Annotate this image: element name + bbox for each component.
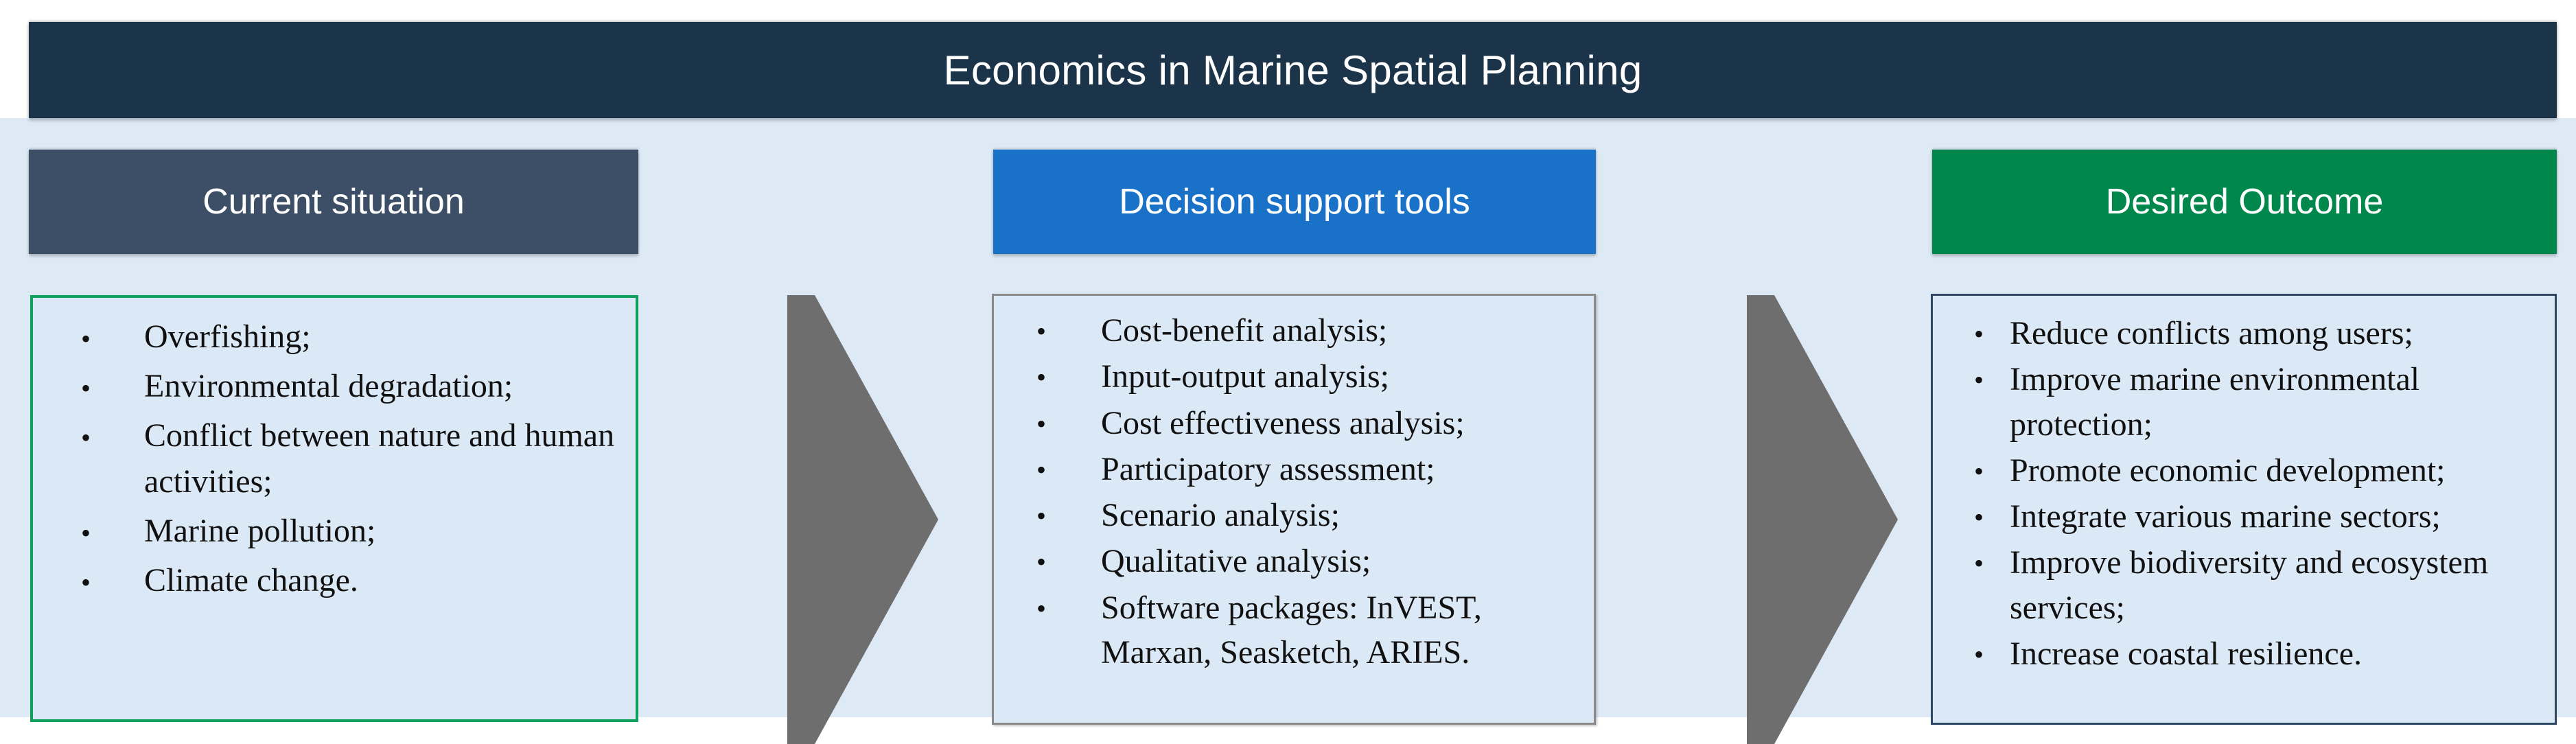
list-item: • Climate change. (81, 558, 630, 603)
column-header-decision-support-tools: Decision support tools (993, 150, 1596, 254)
bullet-icon: • (1036, 401, 1101, 438)
bullet-icon: • (1036, 585, 1101, 623)
bullet-icon: • (1974, 311, 2010, 348)
bullet-icon: • (1036, 539, 1101, 576)
page-title: Economics in Marine Spatial Planning (944, 47, 1643, 94)
bullet-icon: • (81, 314, 144, 353)
list-item: • Cost effectiveness analysis; (1036, 401, 1586, 445)
arrow-right-icon-tools-to-outcome (1747, 295, 1898, 744)
list-item-label: Environmental degradation; (144, 364, 630, 409)
column-header-desired-outcome: Desired Outcome (1932, 150, 2557, 254)
list-item: • Qualitative analysis; (1036, 539, 1586, 583)
bullet-icon: • (1036, 447, 1101, 484)
bullet-icon: • (81, 413, 144, 452)
list-item-label: Reduce conflicts among users; (2010, 311, 2551, 356)
list-item: • Improve biodiversity and ecosystem ser… (1974, 540, 2551, 630)
list-item-label: Qualitative analysis; (1101, 539, 1586, 583)
bullet-list-desired-outcome: • Reduce conflicts among users; • Improv… (1974, 311, 2551, 677)
bullet-icon: • (1974, 540, 2010, 577)
bullet-icon: • (81, 364, 144, 402)
list-item: • Software packages: InVEST, Marxan, Sea… (1036, 585, 1586, 675)
list-item-label: Conflict between nature and human activi… (144, 413, 630, 504)
column-header-label: Decision support tools (1119, 181, 1470, 222)
list-item-label: Participatory assessment; (1101, 447, 1586, 491)
list-item-label: Cost-benefit analysis; (1101, 308, 1586, 353)
list-item: • Increase coastal resilience. (1974, 631, 2551, 676)
list-item-label: Software packages: InVEST, Marxan, Seask… (1101, 585, 1586, 675)
bullet-icon: • (1036, 354, 1101, 391)
bullet-icon: • (81, 558, 144, 596)
bullet-icon: • (1036, 308, 1101, 345)
list-item-label: Improve biodiversity and ecosystem servi… (2010, 540, 2551, 630)
content-box-desired-outcome: • Reduce conflicts among users; • Improv… (1931, 294, 2557, 725)
list-item: • Participatory assessment; (1036, 447, 1586, 491)
list-item: • Reduce conflicts among users; (1974, 311, 2551, 356)
bullet-icon: • (1974, 631, 2010, 669)
list-item-label: Promote economic development; (2010, 448, 2551, 493)
list-item: • Conflict between nature and human acti… (81, 413, 630, 504)
list-item-label: Improve marine environmental protection; (2010, 357, 2551, 447)
column-header-label: Desired Outcome (2106, 181, 2384, 222)
column-header-label: Current situation (202, 181, 465, 222)
bullet-icon: • (1036, 493, 1101, 530)
bullet-icon: • (81, 509, 144, 547)
content-box-current-situation: • Overfishing; • Environmental degradati… (30, 295, 638, 722)
content-box-decision-support-tools: • Cost-benefit analysis; • Input-output … (992, 294, 1596, 725)
list-item-label: Integrate various marine sectors; (2010, 494, 2551, 539)
list-item-label: Climate change. (144, 558, 630, 603)
list-item: • Overfishing; (81, 314, 630, 360)
list-item-label: Overfishing; (144, 314, 630, 360)
list-item: • Environmental degradation; (81, 364, 630, 409)
bullet-list-decision-support-tools: • Cost-benefit analysis; • Input-output … (1036, 308, 1586, 676)
list-item: • Improve marine environmental protectio… (1974, 357, 2551, 447)
column-header-current-situation: Current situation (29, 150, 638, 254)
list-item: • Cost-benefit analysis; (1036, 308, 1586, 353)
list-item: • Promote economic development; (1974, 448, 2551, 493)
list-item-label: Input-output analysis; (1101, 354, 1586, 399)
bullet-list-current-situation: • Overfishing; • Environmental degradati… (81, 314, 630, 607)
bullet-icon: • (1974, 494, 2010, 531)
list-item-label: Scenario analysis; (1101, 493, 1586, 537)
list-item: • Scenario analysis; (1036, 493, 1586, 537)
list-item-label: Cost effectiveness analysis; (1101, 401, 1586, 445)
list-item: • Integrate various marine sectors; (1974, 494, 2551, 539)
arrow-right-icon-current-to-tools (787, 295, 938, 744)
list-item-label: Marine pollution; (144, 509, 630, 554)
list-item: • Marine pollution; (81, 509, 630, 554)
list-item: • Input-output analysis; (1036, 354, 1586, 399)
bullet-icon: • (1974, 448, 2010, 485)
bullet-icon: • (1974, 357, 2010, 394)
diagram-title-bar: Economics in Marine Spatial Planning (29, 22, 2557, 118)
list-item-label: Increase coastal resilience. (2010, 631, 2551, 676)
